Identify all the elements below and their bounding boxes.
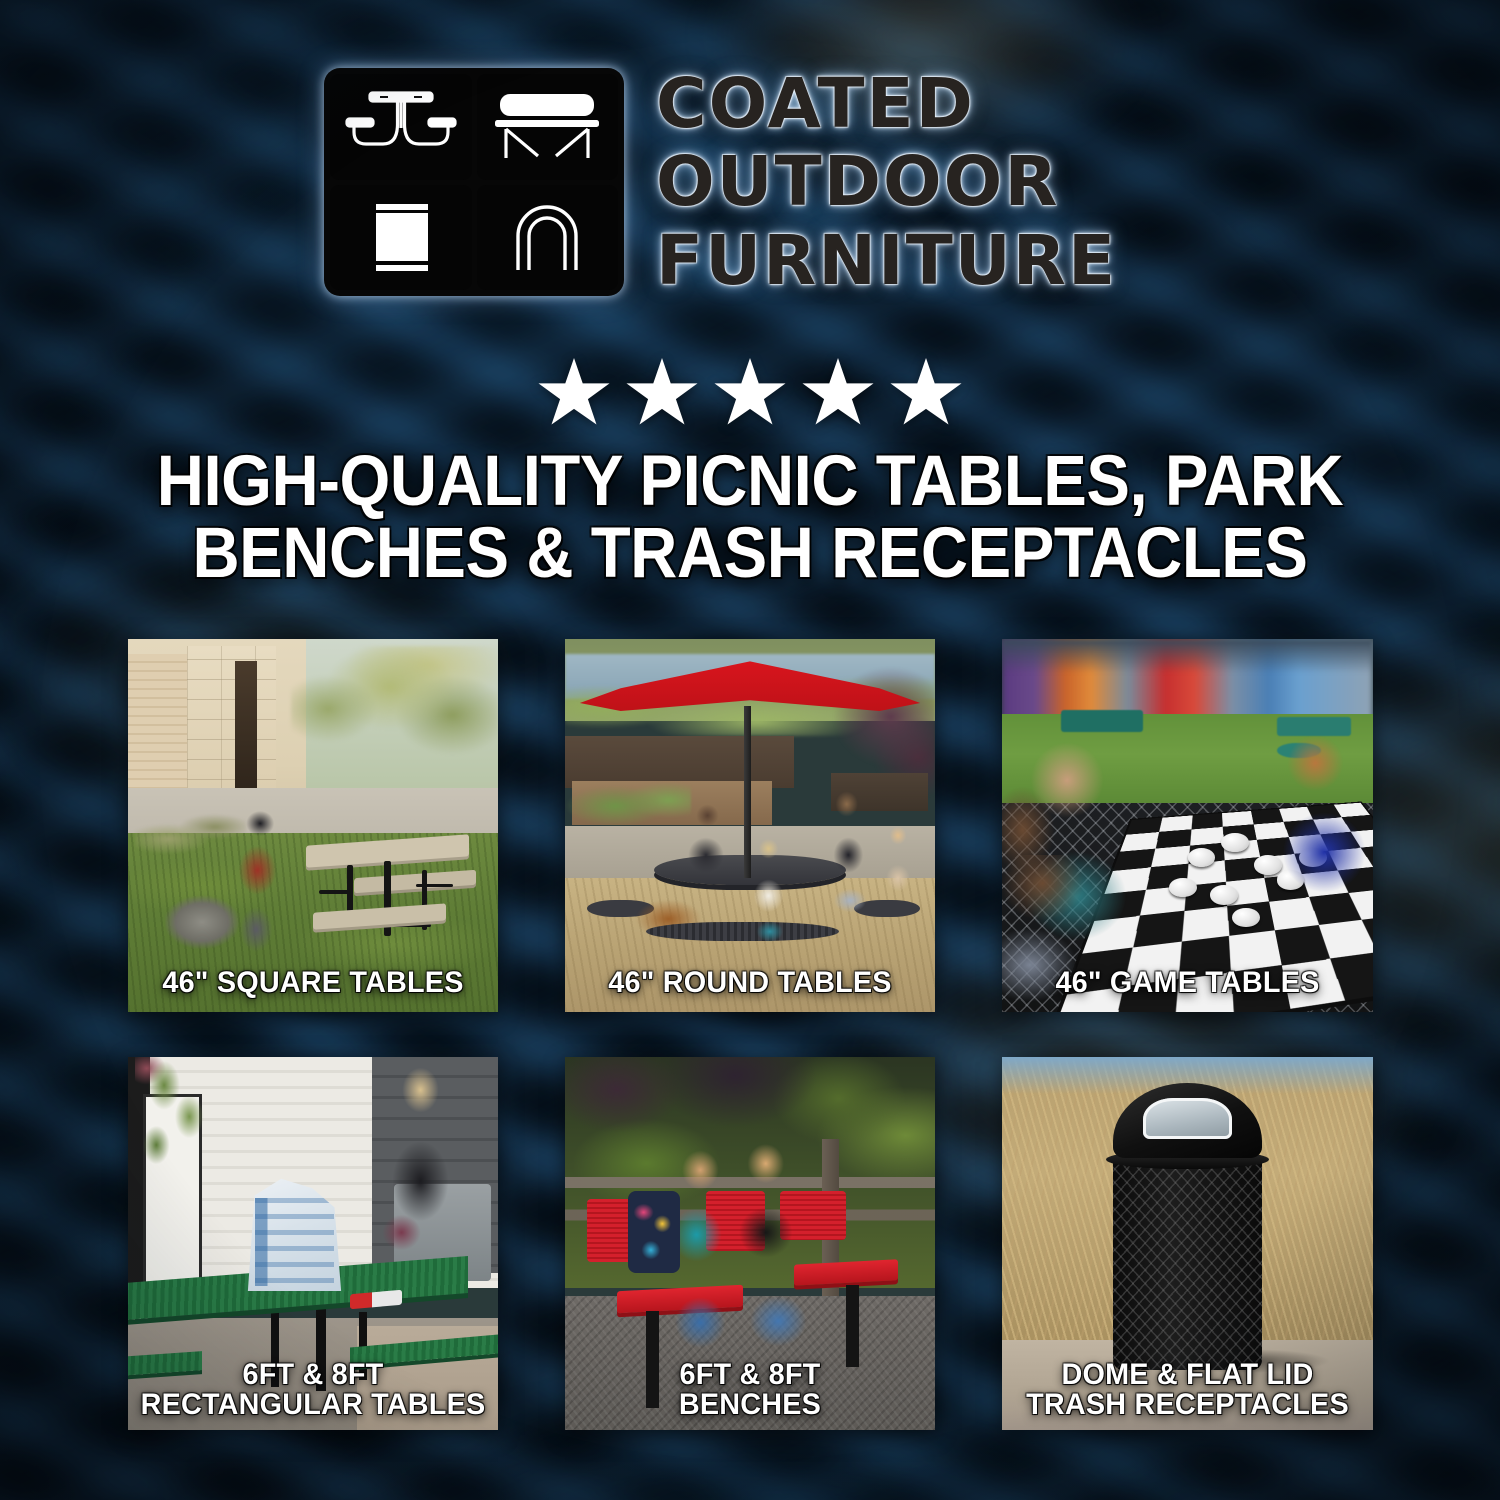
bike-rack-icon bbox=[488, 194, 606, 280]
promo-banner: COATED OUTDOOR FURNITURE HIGH-QUALITY PI… bbox=[0, 0, 1500, 1500]
product-photo-game-tables bbox=[1002, 639, 1373, 1012]
headline-line-2: BENCHES & TRASH RECEPTACLES bbox=[124, 518, 1375, 590]
star-rating bbox=[0, 356, 1500, 428]
receptacle-body bbox=[1113, 1158, 1261, 1371]
logo-mark[interactable] bbox=[324, 68, 624, 296]
trash-receptacle-icon bbox=[342, 194, 460, 280]
product-card-game-tables[interactable]: 46" GAME TABLES bbox=[1002, 639, 1373, 1012]
woman-gardening bbox=[365, 1064, 476, 1280]
product-caption-benches: 6FT & 8FT BENCHES bbox=[572, 1360, 927, 1420]
star-icon bbox=[713, 356, 787, 428]
caption-line: 46" ROUND TABLES bbox=[572, 968, 927, 998]
caption-line: RECTANGULAR TABLES bbox=[135, 1390, 490, 1420]
product-caption-rectangular-tables: 6FT & 8FT RECTANGULAR TABLES bbox=[135, 1360, 490, 1420]
product-card-round-tables[interactable]: 46" ROUND TABLES bbox=[565, 639, 935, 1012]
brand-header: COATED OUTDOOR FURNITURE bbox=[0, 68, 1500, 308]
boy-player bbox=[1262, 732, 1373, 926]
product-grid: 46" SQUARE TABLES bbox=[128, 639, 1373, 1430]
caption-line: 6FT & 8FT bbox=[572, 1360, 927, 1390]
star-icon bbox=[625, 356, 699, 428]
backpack bbox=[628, 1191, 680, 1273]
caption-line: 46" GAME TABLES bbox=[1009, 968, 1365, 998]
boy-right bbox=[720, 1139, 824, 1385]
product-card-trash-receptacles[interactable]: DOME & FLAT LID TRASH RECEPTACLES bbox=[1002, 1057, 1373, 1430]
caption-line: TRASH RECEPTACLES bbox=[1009, 1390, 1365, 1420]
product-card-rectangular-tables[interactable]: 6FT & 8FT RECTANGULAR TABLES bbox=[128, 1057, 498, 1430]
headline-line-1: HIGH-QUALITY PICNIC TABLES, PARK bbox=[124, 446, 1375, 518]
product-caption-game-tables: 46" GAME TABLES bbox=[1009, 968, 1365, 998]
product-photo-square-tables bbox=[128, 639, 498, 1012]
logo-tile-park-bench bbox=[477, 74, 619, 180]
product-caption-trash-receptacles: DOME & FLAT LID TRASH RECEPTACLES bbox=[1009, 1360, 1365, 1420]
dog bbox=[165, 855, 239, 967]
star-icon bbox=[537, 356, 611, 428]
page-title: HIGH-QUALITY PICNIC TABLES, PARK BENCHES… bbox=[124, 446, 1375, 591]
logo-tile-bike-rack bbox=[477, 185, 619, 291]
brand-wordmark: COATED OUTDOOR FURNITURE bbox=[656, 68, 1176, 295]
product-card-benches[interactable]: 6FT & 8FT BENCHES bbox=[565, 1057, 935, 1430]
picnic-table-icon bbox=[342, 84, 460, 170]
caption-line: 6FT & 8FT bbox=[135, 1360, 490, 1390]
star-icon bbox=[801, 356, 875, 428]
caption-line: BENCHES bbox=[572, 1390, 927, 1420]
park-bench-icon bbox=[488, 84, 606, 170]
caption-line: DOME & FLAT LID bbox=[1009, 1360, 1365, 1390]
logo-tile-picnic-table bbox=[330, 74, 472, 180]
brand-line-2: OUTDOOR bbox=[656, 148, 1176, 216]
product-caption-square-tables: 46" SQUARE TABLES bbox=[135, 968, 490, 998]
logo-tile-trash-receptacle bbox=[330, 185, 472, 291]
product-card-square-tables[interactable]: 46" SQUARE TABLES bbox=[128, 639, 498, 1012]
product-caption-round-tables: 46" ROUND TABLES bbox=[572, 968, 927, 998]
dome-opening bbox=[1143, 1098, 1232, 1139]
brand-line-3: FURNITURE bbox=[656, 227, 1176, 295]
star-icon bbox=[889, 356, 963, 428]
brand-line-1: COATED bbox=[656, 70, 1176, 138]
caption-line: 46" SQUARE TABLES bbox=[135, 968, 490, 998]
product-photo-round-tables bbox=[565, 639, 935, 1012]
